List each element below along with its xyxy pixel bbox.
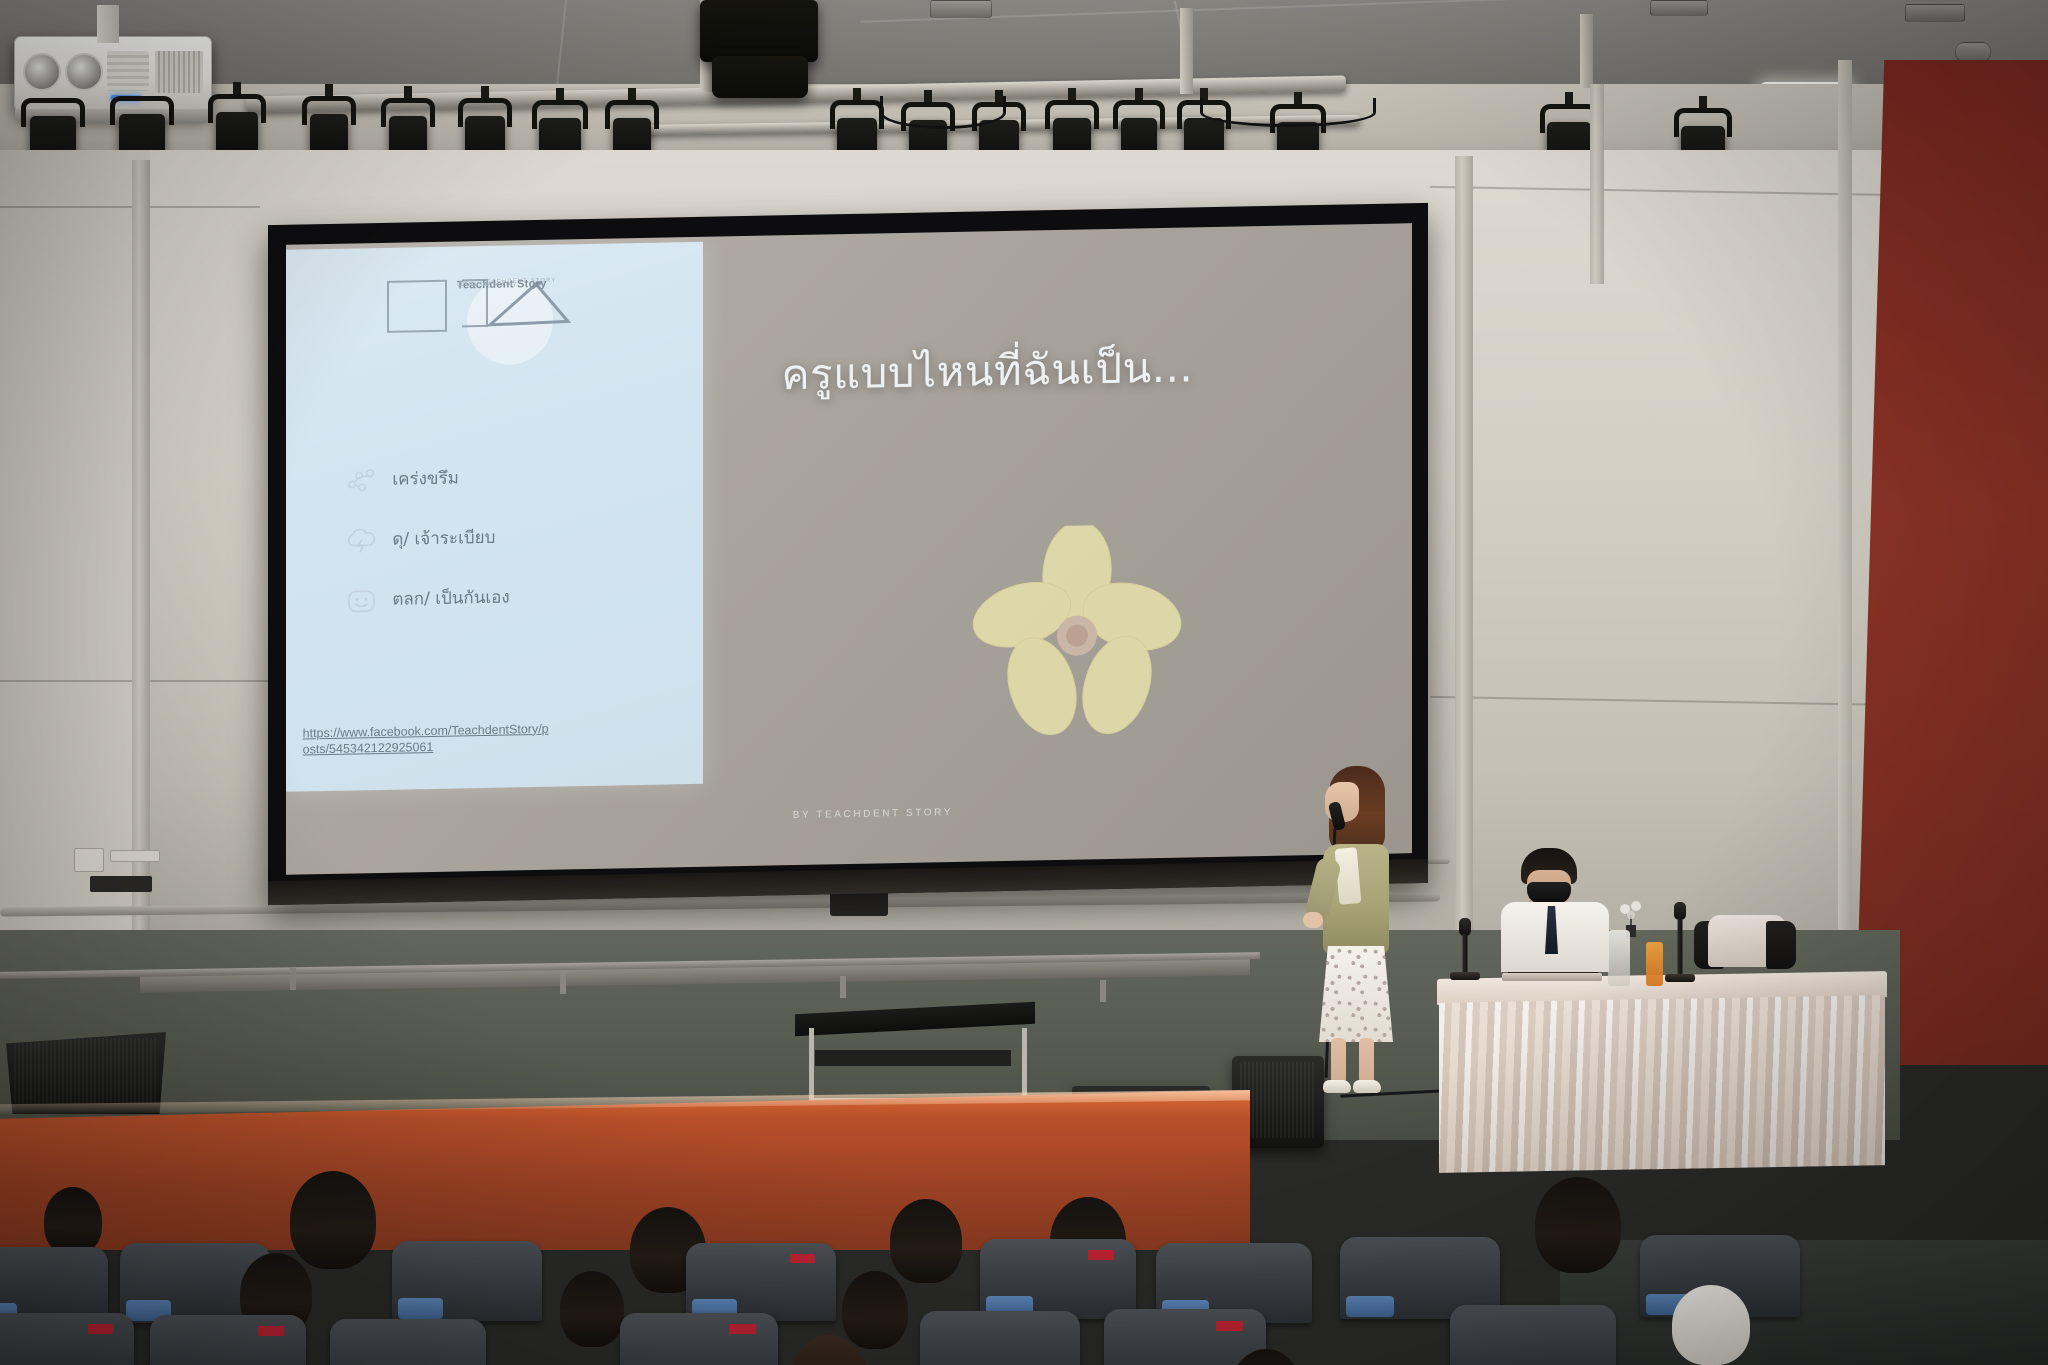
presenter-shoe [1353,1080,1381,1093]
audience-seat [980,1239,1136,1319]
table-mic-right [1662,902,1698,982]
wall-outlet [110,850,160,862]
projector-fan-icon [65,53,103,91]
truss-drop-rod [1180,8,1193,94]
audience-seat [150,1315,306,1365]
audience-head [560,1271,624,1347]
audience-head [1672,1285,1750,1365]
audience-seat [686,1243,836,1321]
list-item: ดุ/ เจ้าระเบียบ [344,519,702,556]
projector-mount [97,5,119,43]
slide-left-panel: TEACHDENT STORY Teachdent Story @Teachde… [286,242,703,792]
wall-junction-box [90,876,152,892]
brand-logo-block: TEACHDENT STORY Teachdent Story @Teachde… [382,276,632,281]
laptop-keyboard[interactable] [1502,973,1602,981]
presenter-hand [1303,912,1323,928]
list-item-label: ตลก/ เป็นกันเอง [392,584,509,613]
audience-head [290,1171,376,1269]
truss-cable [880,96,1006,129]
table-shelf [815,1050,1011,1066]
presenter-skirt [1319,946,1393,1042]
projection-screen: TEACHDENT STORY Teachdent Story @Teachde… [268,203,1428,905]
wall-column [1590,84,1604,284]
list-item-label: เคร่งขรึม [392,465,459,493]
ceiling-vent [1905,4,1965,22]
ceiling-vent [930,0,992,18]
presenter-table [1437,975,1887,1170]
moving-head-light [700,0,818,62]
stage-chair[interactable] [1700,915,1792,997]
projector-fan-icon [23,53,61,91]
presenter-shoe [1323,1080,1351,1093]
orange-drink-cup [1646,942,1663,986]
moving-head-light [712,56,808,98]
audience-head [44,1187,102,1255]
audience-seat [330,1319,486,1365]
brand-handle: @TeachdentStory [457,278,517,288]
audience-seat [1450,1305,1616,1365]
audience-head [1535,1177,1621,1273]
red-wall-edge [1838,60,1852,1065]
wall-outlet [74,848,104,872]
wall-column [132,160,150,960]
screen-surface: TEACHDENT STORY Teachdent Story @Teachde… [286,223,1412,875]
ceiling-speaker [1955,42,1991,62]
audience-seating [0,1185,1260,1365]
audience-seat [392,1241,542,1321]
slide-credit: BY TEACHDENT STORY [793,807,953,821]
wall-column [1455,156,1473,936]
projector-vent-grid [155,51,203,93]
table-skirt [1439,995,1885,1173]
auditorium-scene: TEACHDENT STORY Teachdent Story @Teachde… [0,0,2048,1365]
list-item: เคร่งขรึม [344,459,702,496]
face-mask [1527,882,1571,904]
truss-cable [1200,98,1376,127]
chair-arm [1766,921,1796,969]
slide-title: ครูแบบไหนที่ฉันเป็น... [781,331,1389,409]
table-mic-left [1448,918,1482,980]
presenter [1307,766,1403,1096]
sparkle-icon [344,465,378,496]
stage-monitor-left [6,1032,166,1114]
av-operator [1495,848,1615,968]
audience-head [890,1199,962,1283]
flower-decoration [962,523,1192,747]
source-url-link[interactable]: https://www.facebook.com/TeachdentStory/… [303,720,553,759]
audience-head [842,1271,908,1349]
cloud-lightning-icon [344,525,378,556]
truss-drop-rod [1580,14,1593,88]
list-item: ตลก/ เป็นกันเอง [344,579,702,616]
foreground-block [1560,1240,2048,1365]
list-item-label: ดุ/ เจ้าระเบียบ [392,524,495,553]
projector-control-panel [107,51,149,91]
slide-content: TEACHDENT STORY Teachdent Story @Teachde… [286,223,1412,875]
audience-seat [1104,1309,1266,1365]
smiley-face-icon [344,585,378,616]
left-wall-return [0,150,150,960]
slide-bullet-list: เคร่งขรึม ดุ/ เจ้าระเบียบ [344,459,702,646]
audience-seat [0,1313,134,1365]
ceiling-vent [1650,0,1708,16]
logo-frame-icon [387,279,447,332]
audience-seat [620,1313,778,1365]
audience-seat [920,1311,1080,1365]
folding-table [795,1008,1035,1106]
